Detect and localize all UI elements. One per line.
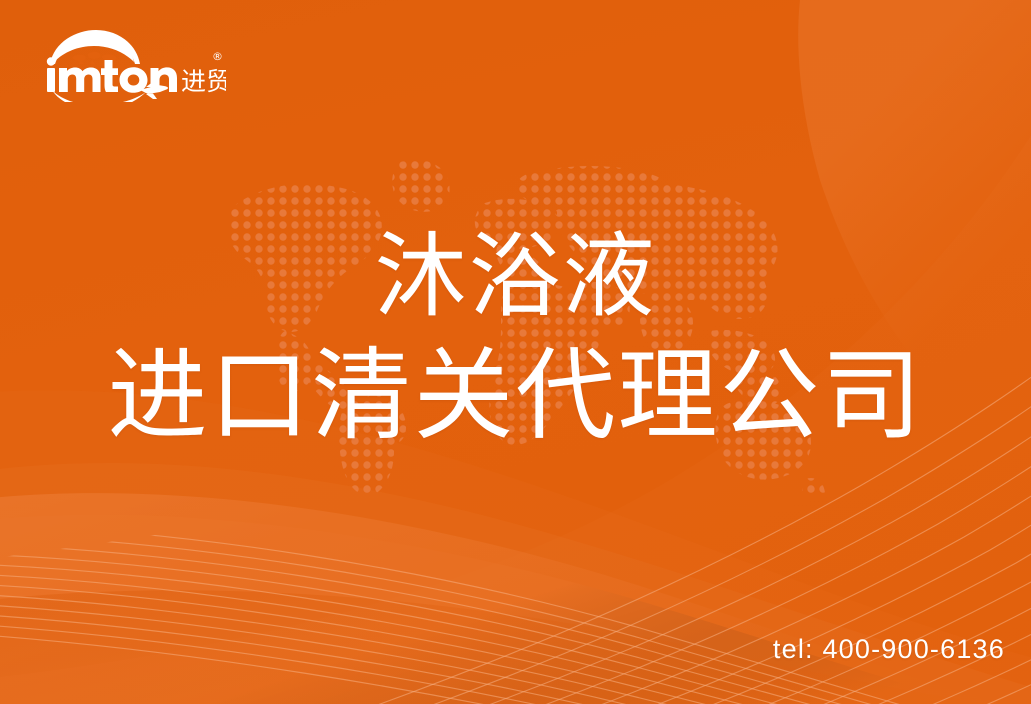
line-fan-decoration [0, 524, 1031, 704]
globe-icon [50, 30, 140, 65]
company-logo[interactable]: 进贸通 ® [36, 30, 226, 102]
headline-line-2: 进口清关代理公司 [0, 340, 1031, 453]
promo-banner: 进贸通 ® 沐浴液 进口清关代理公司 tel: 400-900-6136 [0, 0, 1031, 704]
headline: 沐浴液 进口清关代理公司 [0, 226, 1031, 453]
logo-chinese-name: 进贸通 [181, 67, 226, 96]
registered-trademark-icon: ® [212, 50, 223, 63]
headline-line-1: 沐浴液 [0, 226, 1031, 330]
telephone-text: tel: 400-900-6136 [773, 634, 1005, 665]
